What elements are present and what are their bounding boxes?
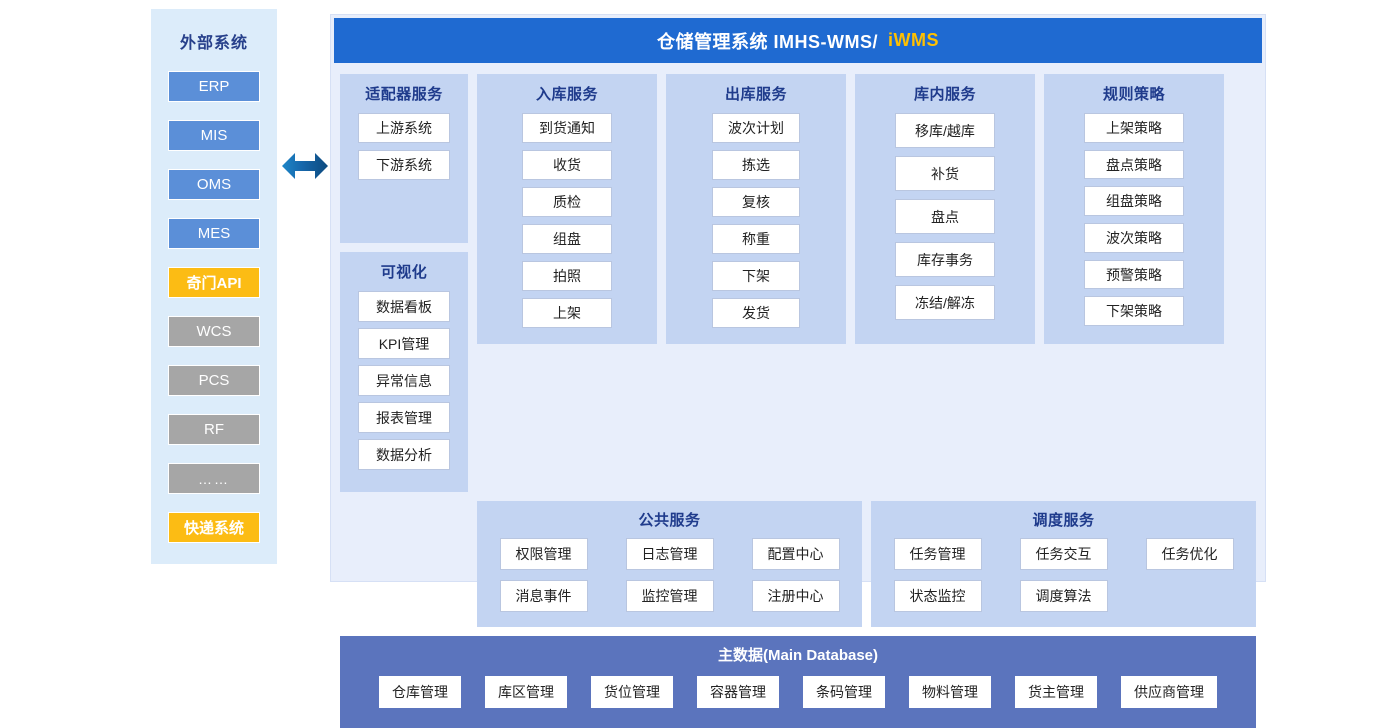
item-wave-strategy[interactable]: 波次策略 [1084, 223, 1184, 253]
item-arrival-notice[interactable]: 到货通知 [522, 113, 612, 143]
external-systems-title: 外部系统 [180, 29, 248, 53]
group-visualization: 可视化 数据看板 KPI管理 异常信息 报表管理 数据分析 [340, 252, 468, 492]
item-quality-check[interactable]: 质检 [522, 187, 612, 217]
system-chip-more[interactable]: …… [168, 463, 260, 494]
system-chip-wcs[interactable]: WCS [168, 316, 260, 347]
item-palletizing-strategy[interactable]: 组盘策略 [1084, 186, 1184, 216]
item-material-management[interactable]: 物料管理 [909, 676, 991, 708]
item-downstream-system[interactable]: 下游系统 [358, 150, 450, 180]
item-kpi-management[interactable]: KPI管理 [358, 328, 450, 359]
item-zone-management[interactable]: 库区管理 [485, 676, 567, 708]
item-offshelf-strategy[interactable]: 下架策略 [1084, 296, 1184, 326]
item-putaway-strategy[interactable]: 上架策略 [1084, 113, 1184, 143]
group-inbound-service: 入库服务 到货通知 收货 质检 组盘 拍照 上架 [477, 74, 657, 344]
system-chip-mis[interactable]: MIS [168, 120, 260, 151]
group-title-inbound: 入库服务 [536, 83, 598, 104]
item-registry-center[interactable]: 注册中心 [752, 580, 840, 612]
system-chip-express[interactable]: 快递系统 [168, 512, 260, 543]
group-public-service: 公共服务 权限管理 日志管理 配置中心 消息事件 监控管理 注册中心 [477, 501, 862, 627]
item-report-management[interactable]: 报表管理 [358, 402, 450, 433]
item-weighing[interactable]: 称重 [712, 224, 800, 254]
shared-service-row: 公共服务 权限管理 日志管理 配置中心 消息事件 监控管理 注册中心 调度服务 … [340, 501, 1256, 627]
item-recheck[interactable]: 复核 [712, 187, 800, 217]
item-upstream-system[interactable]: 上游系统 [358, 113, 450, 143]
wms-header: 仓储管理系统 IMHS-WMS/ iWMS [334, 18, 1262, 63]
wms-body: 适配器服务 上游系统 下游系统 可视化 数据看板 KPI管理 异常信息 报表管理… [331, 63, 1265, 728]
group-title-rules: 规则策略 [1103, 83, 1165, 104]
column-adapter-visualization: 适配器服务 上游系统 下游系统 可视化 数据看板 KPI管理 异常信息 报表管理… [340, 74, 468, 492]
system-chip-oms[interactable]: OMS [168, 169, 260, 200]
group-title-visualization: 可视化 [381, 261, 428, 282]
group-outbound-service: 出库服务 波次计划 拣选 复核 称重 下架 发货 [666, 74, 846, 344]
item-alert-strategy[interactable]: 预警策略 [1084, 260, 1184, 290]
item-task-management[interactable]: 任务管理 [894, 538, 982, 570]
wms-title: 仓储管理系统 IMHS-WMS/ [657, 28, 878, 54]
item-offshelf[interactable]: 下架 [712, 261, 800, 291]
item-palletizing[interactable]: 组盘 [522, 224, 612, 254]
item-photograph[interactable]: 拍照 [522, 261, 612, 291]
system-chip-mes[interactable]: MES [168, 218, 260, 249]
item-warehouse-management[interactable]: 仓库管理 [379, 676, 461, 708]
grid-spacer [1146, 580, 1234, 612]
group-adapter-service: 适配器服务 上游系统 下游系统 [340, 74, 468, 243]
item-monitor-management[interactable]: 监控管理 [626, 580, 714, 612]
item-exception-info[interactable]: 异常信息 [358, 365, 450, 396]
item-data-dashboard[interactable]: 数据看板 [358, 291, 450, 322]
item-replenishment[interactable]: 补货 [895, 156, 995, 191]
item-location-management[interactable]: 货位管理 [591, 676, 673, 708]
item-status-monitor[interactable]: 状态监控 [894, 580, 982, 612]
item-stocktake-strategy[interactable]: 盘点策略 [1084, 150, 1184, 180]
column-inbound: 入库服务 到货通知 收货 质检 组盘 拍照 上架 [477, 74, 657, 344]
group-title-adapter: 适配器服务 [365, 83, 443, 104]
group-title-public: 公共服务 [638, 509, 700, 530]
item-message-event[interactable]: 消息事件 [500, 580, 588, 612]
item-owner-management[interactable]: 货主管理 [1015, 676, 1097, 708]
group-title-internal: 库内服务 [914, 83, 976, 104]
column-outbound: 出库服务 波次计划 拣选 复核 称重 下架 发货 [666, 74, 846, 344]
group-title-dispatch: 调度服务 [1032, 509, 1094, 530]
architecture-diagram: 外部系统 ERP MIS OMS MES 奇门API WCS PCS RF ……… [0, 0, 1400, 600]
item-barcode-management[interactable]: 条码管理 [803, 676, 885, 708]
item-task-interaction[interactable]: 任务交互 [1020, 538, 1108, 570]
item-supplier-management[interactable]: 供应商管理 [1121, 676, 1217, 708]
item-receiving[interactable]: 收货 [522, 150, 612, 180]
wms-container: 仓储管理系统 IMHS-WMS/ iWMS 适配器服务 上游系统 下游系统 可视… [330, 14, 1266, 582]
item-picking[interactable]: 拣选 [712, 150, 800, 180]
group-internal-service: 库内服务 移库/越库 补货 盘点 库存事务 冻结/解冻 [855, 74, 1035, 344]
item-data-analysis[interactable]: 数据分析 [358, 439, 450, 470]
system-chip-pcs[interactable]: PCS [168, 365, 260, 396]
item-transfer-crossdock[interactable]: 移库/越库 [895, 113, 995, 148]
main-database-title: 主数据(Main Database) [718, 644, 878, 665]
main-database-bar: 主数据(Main Database) 仓库管理 库区管理 货位管理 容器管理 条… [340, 636, 1256, 728]
system-chip-qimen-api[interactable]: 奇门API [168, 267, 260, 298]
service-columns: 适配器服务 上游系统 下游系统 可视化 数据看板 KPI管理 异常信息 报表管理… [340, 74, 1256, 492]
item-inventory-transaction[interactable]: 库存事务 [895, 242, 995, 277]
item-wave-plan[interactable]: 波次计划 [712, 113, 800, 143]
item-freeze-unfreeze[interactable]: 冻结/解冻 [895, 285, 995, 320]
system-chip-rf[interactable]: RF [168, 414, 260, 445]
item-stocktake[interactable]: 盘点 [895, 199, 995, 234]
wms-title-accent: iWMS [888, 30, 939, 51]
item-putaway[interactable]: 上架 [522, 298, 612, 328]
external-systems-panel: 外部系统 ERP MIS OMS MES 奇门API WCS PCS RF ……… [151, 9, 277, 564]
item-shipping[interactable]: 发货 [712, 298, 800, 328]
item-task-optimization[interactable]: 任务优化 [1146, 538, 1234, 570]
column-internal: 库内服务 移库/越库 补货 盘点 库存事务 冻结/解冻 [855, 74, 1035, 344]
item-config-center[interactable]: 配置中心 [752, 538, 840, 570]
column-rules: 规则策略 上架策略 盘点策略 组盘策略 波次策略 预警策略 下架策略 [1044, 74, 1224, 344]
item-permission-management[interactable]: 权限管理 [500, 538, 588, 570]
item-dispatch-algorithm[interactable]: 调度算法 [1020, 580, 1108, 612]
group-title-outbound: 出库服务 [725, 83, 787, 104]
group-dispatch-service: 调度服务 任务管理 任务交互 任务优化 状态监控 调度算法 [871, 501, 1256, 627]
item-log-management[interactable]: 日志管理 [626, 538, 714, 570]
item-container-management[interactable]: 容器管理 [697, 676, 779, 708]
group-rule-strategy: 规则策略 上架策略 盘点策略 组盘策略 波次策略 预警策略 下架策略 [1044, 74, 1224, 344]
system-chip-erp[interactable]: ERP [168, 71, 260, 102]
bidirectional-arrow-icon [282, 148, 328, 184]
